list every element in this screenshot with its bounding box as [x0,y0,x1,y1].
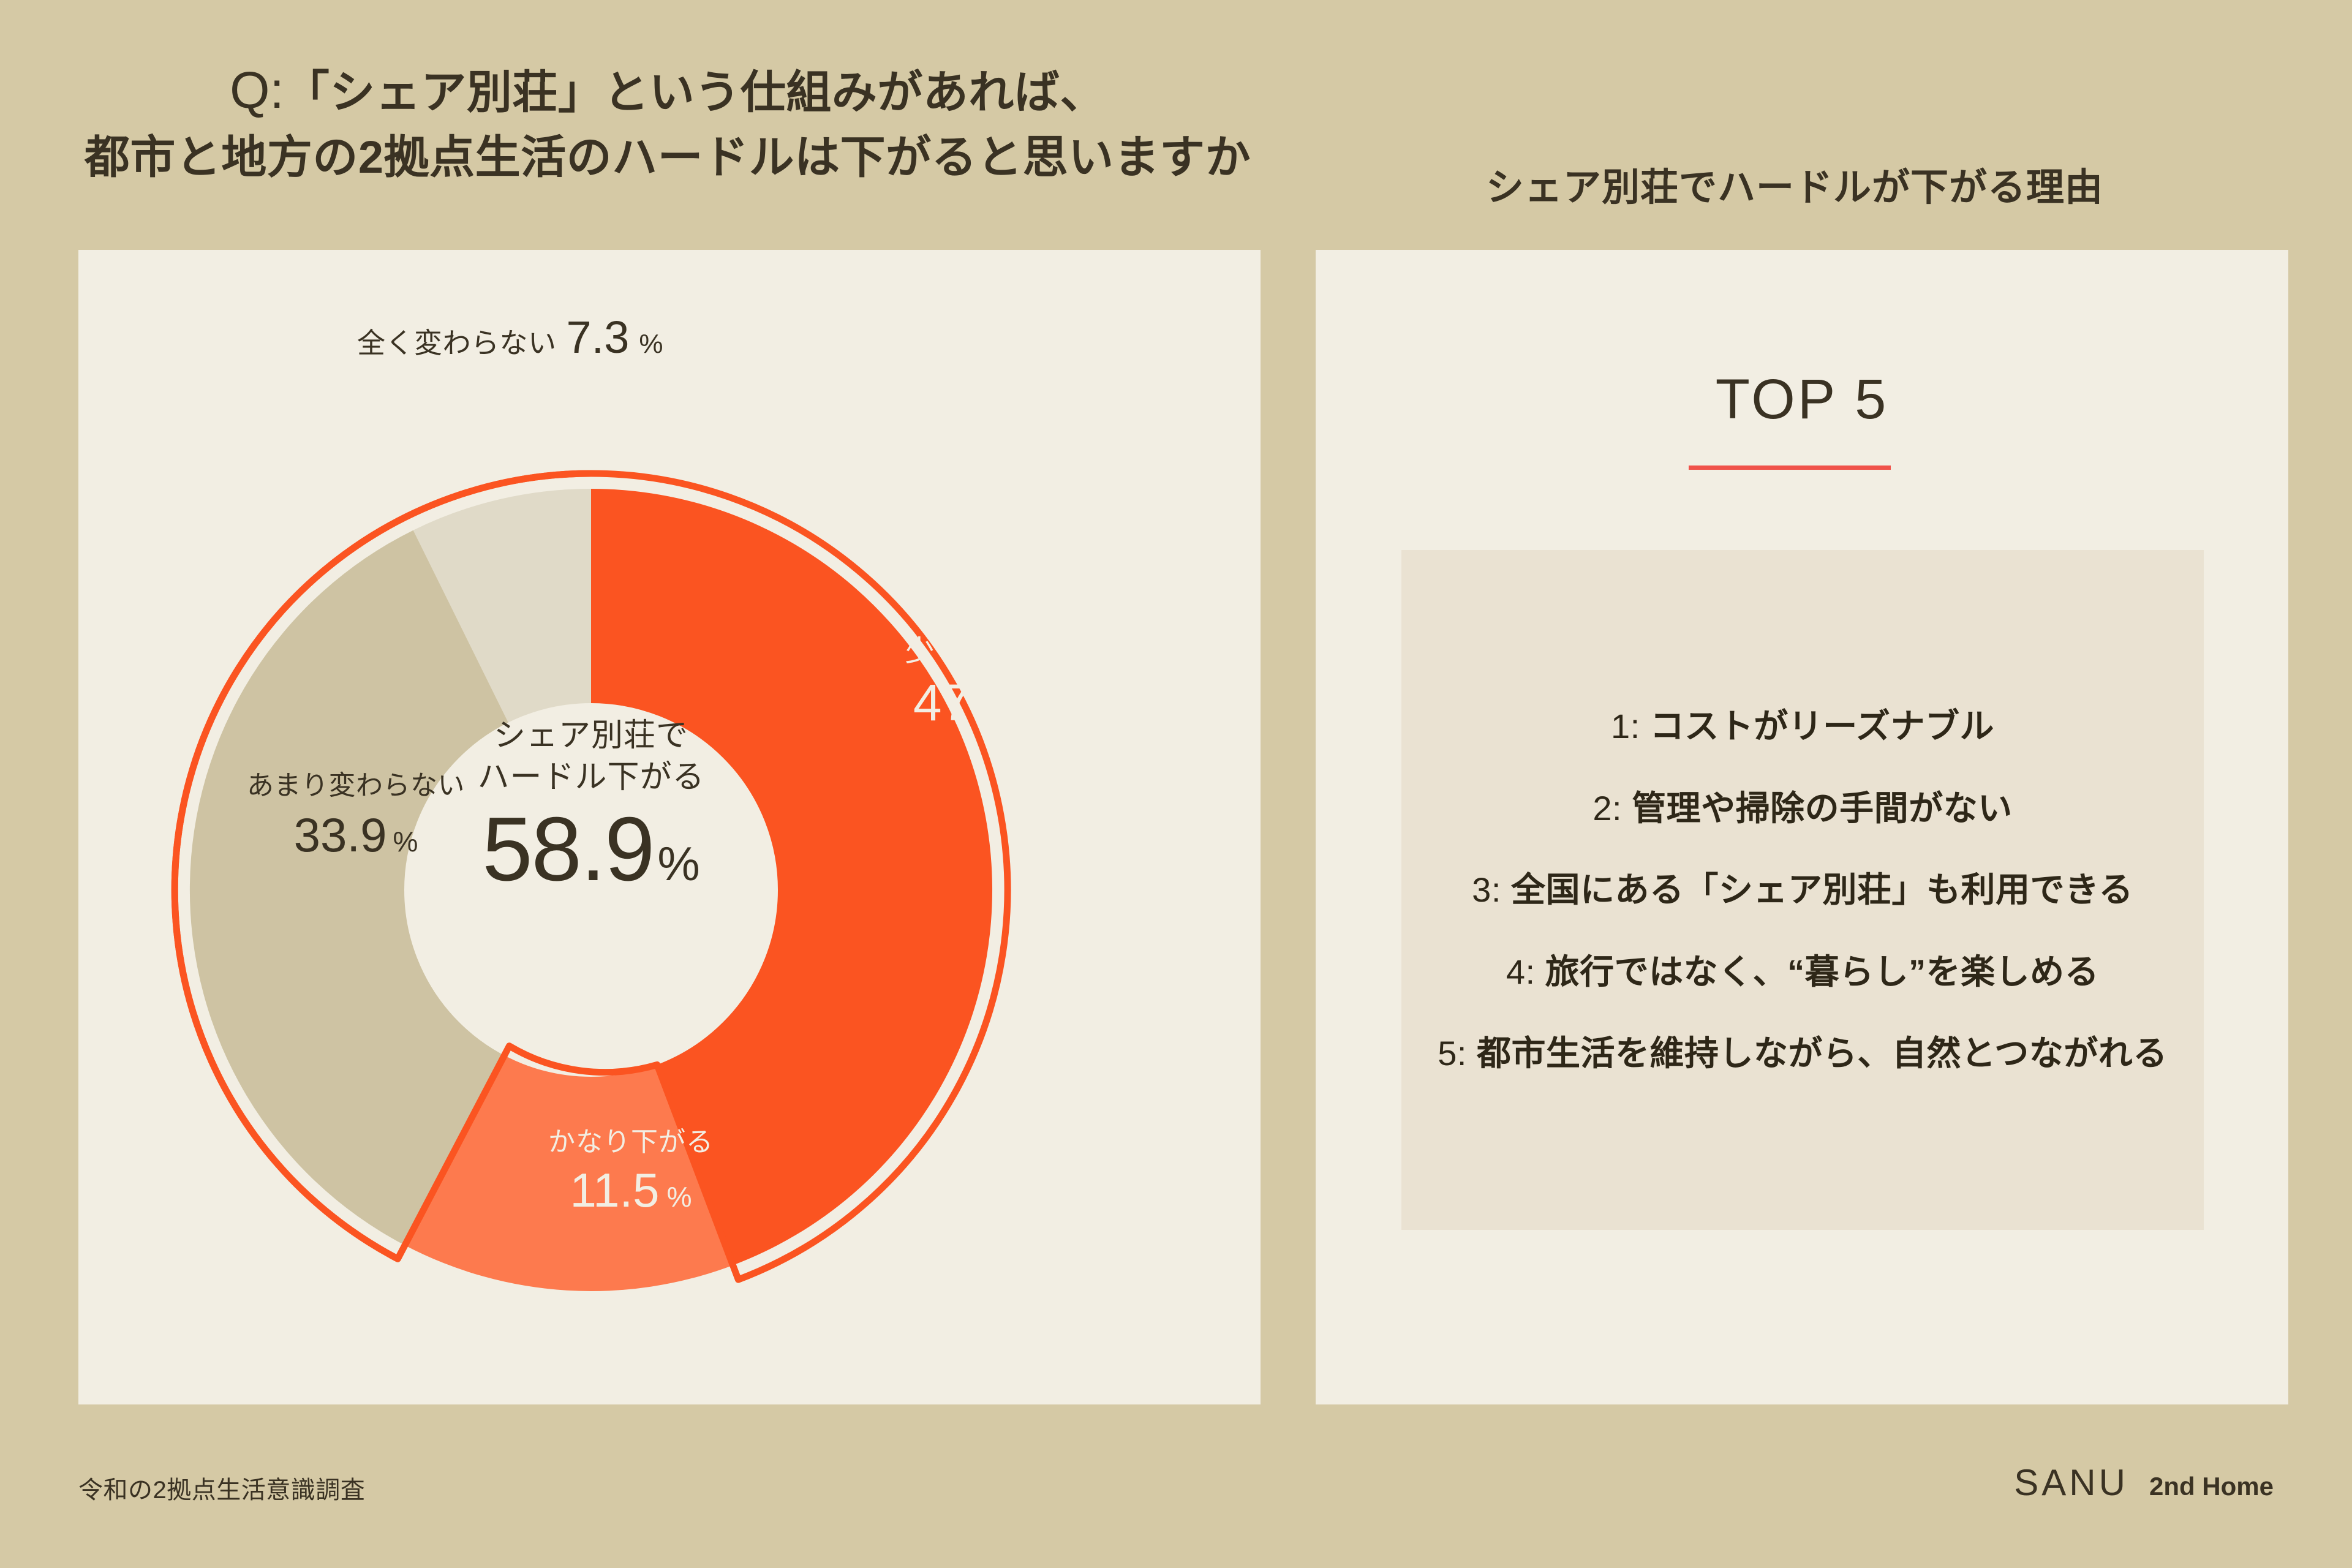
label-sukoshi-sagaru-unit: % [1020,694,1047,728]
list-item-index: 4: [1506,952,1536,991]
label-kanari-sagaru-unit: % [667,1180,692,1213]
list-item-index: 2: [1593,789,1622,827]
label-sukoshi-sagaru-value: 47.4 [913,673,1014,733]
list-item: 3: 全国にある「シェア別荘」も利用できる [1472,867,2133,913]
list-item-index: 5: [1438,1034,1467,1072]
list-item-text: コストがリーズナブル [1650,707,1994,745]
donut-center-label: シェア別荘で ハードル下がる 58.9 % [407,715,775,895]
label-kanari-sagaru: かなり下がる 11.5 % [514,1120,747,1218]
label-amari-kawaranai-value: 33.9 [294,807,387,863]
top5-list: 1: コストがリーズナブル 2: 管理や掃除の手間がない 3: 全国にある「シェ… [1401,550,2204,1230]
center-unit: % [657,836,699,892]
list-item-text: 都市生活を維持しながら、自然とつながれる [1477,1034,2168,1072]
infographic-page: Q:「シェア別荘」という仕組みがあれば、 都市と地方の2拠点生活のハードルは下が… [0,0,2352,1568]
list-item: 1: コストがリーズナブル [1611,703,1994,750]
label-sukoshi-sagaru: 少し下がる 47.4 % [870,627,1090,733]
label-zenku-kawaranai-name: 全く変わらない [357,321,557,361]
question-line1: 「シェア別荘」という仕組みがあれば、 [284,67,1106,118]
list-item-text: 全国にある「シェア別荘」も利用できる [1511,870,2133,909]
label-zenku-kawaranai: 全く変わらない 7.3 % [357,311,663,363]
center-value: 58.9 [482,804,654,895]
label-kanari-sagaru-value: 11.5 [570,1163,660,1218]
top5-heading: TOP 5 [1716,367,1889,432]
question-prefix: Q: [230,61,284,119]
donut-chart: 全く変わらない 7.3 % あまり変わらない 33.9 % 少し下がる 47.4… [78,250,1261,1404]
label-kanari-sagaru-name: かなり下がる [514,1120,747,1159]
center-line-1: シェア別荘で [494,718,688,753]
question-title: Q:「シェア別荘」という仕組みがあれば、 都市と地方の2拠点生活のハードルは下が… [55,55,1280,189]
top5-heading-wrap: TOP 5 [1316,367,2288,432]
footer-note: 令和の2拠点生活意識調査 [78,1470,365,1506]
center-line-2: ハードル下がる [477,759,704,795]
list-item-index: 1: [1611,707,1640,745]
list-item-text: 管理や掃除の手間がない [1632,789,2013,827]
label-sukoshi-sagaru-name: 少し下がる [870,627,1090,669]
brand-logo: SANU 2nd Home [2014,1461,2274,1504]
brand-name: SANU [2014,1461,2128,1504]
reasons-heading: シェア別荘でハードルが下がる理由 [1298,156,2291,211]
label-zenku-kawaranai-value: 7.3 [567,311,630,363]
list-item: 5: 都市生活を維持しながら、自然とつながれる [1420,1030,2185,1077]
list-item: 2: 管理や掃除の手間がない [1593,785,2012,832]
label-zenku-kawaranai-unit: % [639,329,663,360]
question-line2: 都市と地方の2拠点生活のハードルは下がると思いますか [55,126,1280,189]
list-item: 4: 旅行ではなく、“暮らし”を楽しめる [1506,949,2099,995]
list-item-index: 3: [1472,870,1501,909]
top5-underline [1689,466,1891,470]
brand-subtitle: 2nd Home [2149,1472,2274,1504]
list-item-text: 旅行ではなく、“暮らし”を楽しめる [1545,952,2100,991]
